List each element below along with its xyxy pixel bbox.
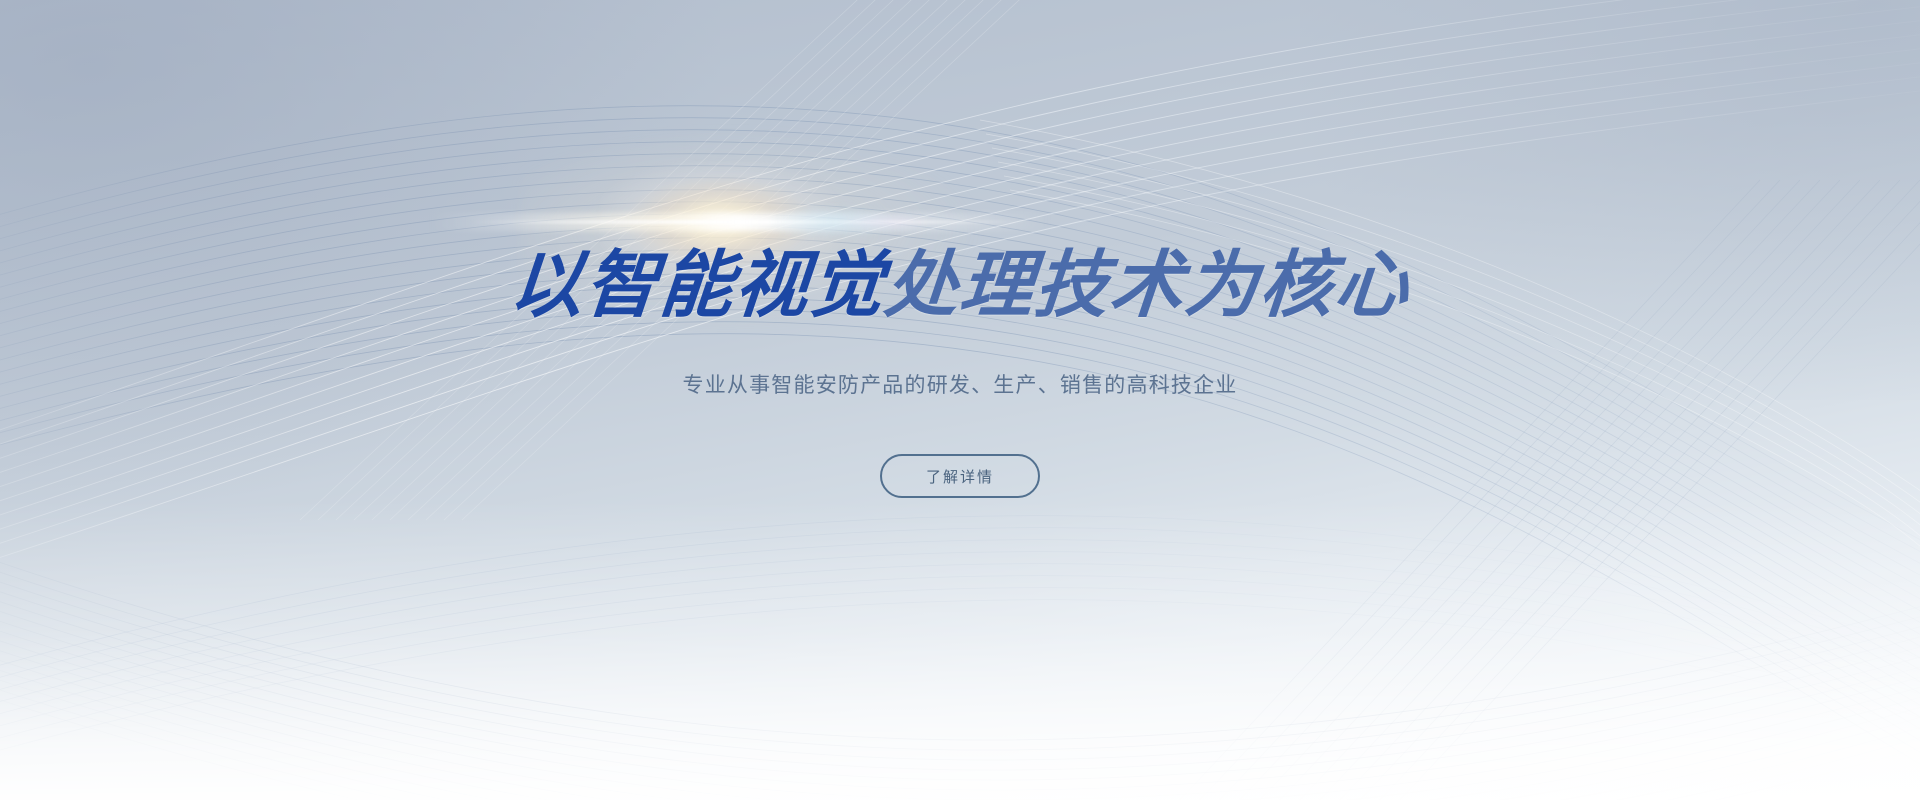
learn-more-button[interactable]: 了解详情 [880, 454, 1040, 498]
hero-banner: 以智能视觉处理技术为核心 专业从事智能安防产品的研发、生产、销售的高科技企业 了… [0, 0, 1920, 800]
hero-headline: 以智能视觉处理技术为核心 [507, 249, 1413, 322]
hero-subtitle: 专业从事智能安防产品的研发、生产、销售的高科技企业 [683, 371, 1238, 400]
hero-content: 以智能视觉处理技术为核心 专业从事智能安防产品的研发、生产、销售的高科技企业 了… [0, 0, 1920, 800]
headline-segment-secondary: 处理技术为核心 [881, 245, 1413, 326]
headline-segment-primary: 以智能视觉 [506, 245, 888, 326]
